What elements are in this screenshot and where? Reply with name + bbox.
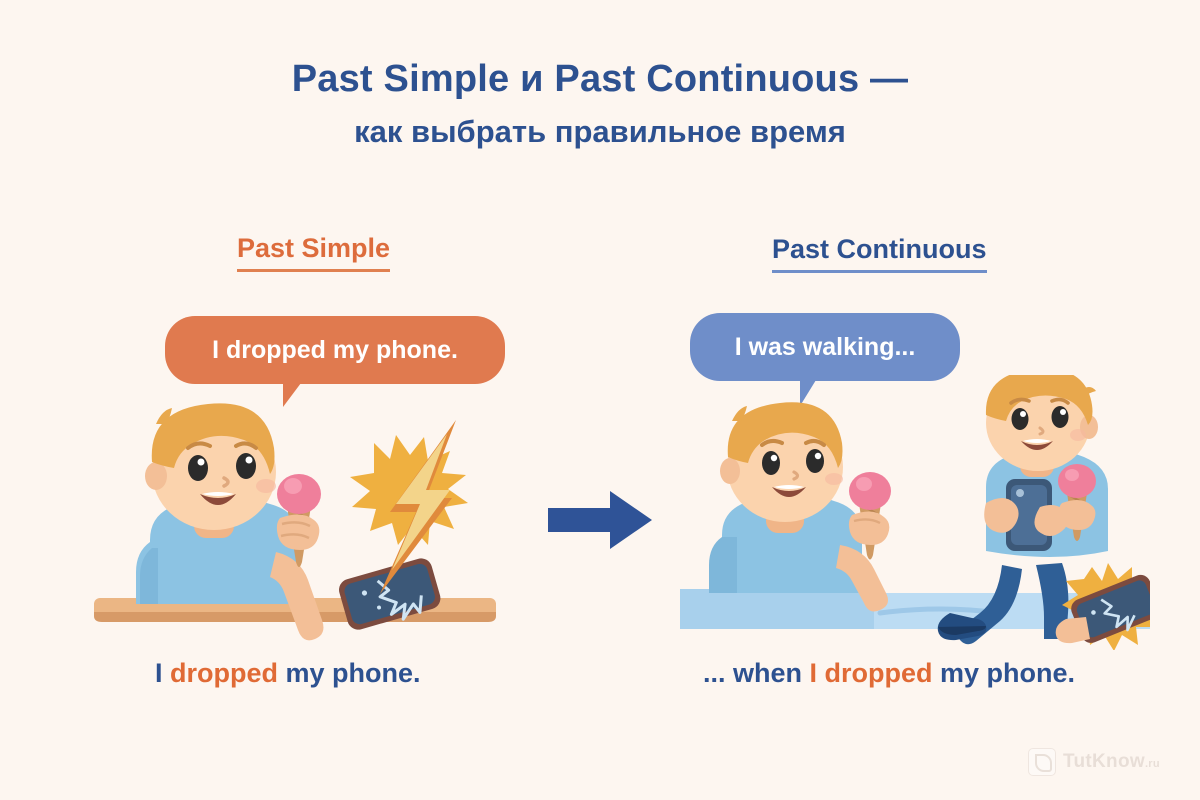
watermark-text: TutKnow.ru [1063,751,1160,773]
caption-past-simple: I dropped my phone. [155,658,421,689]
speech-bubble-past-continuous: I was walking... [690,313,960,381]
caption-left-part2: my phone. [278,658,421,688]
caption-right-part1: ... when [703,658,810,688]
page-title: Past Simple и Past Continuous — как выбр… [0,58,1200,152]
dropped-phone-right [1056,563,1150,650]
transition-arrow-icon [548,491,652,554]
illustration-past-continuous [680,375,1150,650]
title-line-1: Past Simple и Past Continuous — [0,58,1200,102]
caption-left-highlight: dropped [170,658,278,688]
watermark-name: TutKnow [1063,751,1145,772]
illustration-past-simple [90,390,510,650]
title-line-2: как выбрать правильное время [0,112,1200,152]
section-heading-past-simple: Past Simple [237,233,390,272]
watermark: TutKnow.ru [1028,748,1160,776]
caption-past-continuous: ... when I dropped my phone. [703,658,1075,689]
watermark-suffix: .ru [1145,758,1160,770]
watermark-logo-icon [1028,748,1056,776]
section-heading-past-continuous: Past Continuous [772,234,987,273]
caption-right-highlight: I dropped [810,658,933,688]
infographic-page: Past Simple и Past Continuous — как выбр… [0,0,1200,800]
caption-left-part1: I [155,658,170,688]
cracked-phone-left [336,556,443,634]
speech-bubble-past-simple-text: I dropped my phone. [212,336,458,365]
speech-bubble-past-simple: I dropped my phone. [165,316,505,384]
speech-bubble-past-continuous-text: I was walking... [735,333,916,362]
caption-right-part2: my phone. [933,658,1076,688]
